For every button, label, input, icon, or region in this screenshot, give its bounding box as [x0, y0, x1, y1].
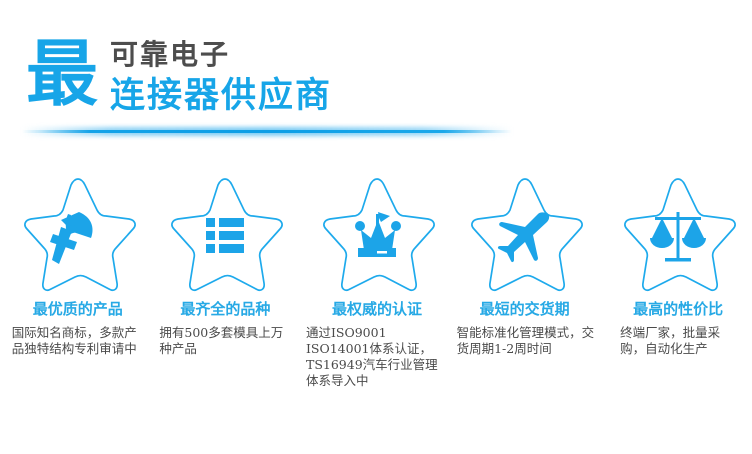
features-row: 最优质的产品 国际知名商标，多款产品独特结构专利审请中 最齐全的品种 拥有500…: [0, 172, 752, 402]
feature-description: 国际知名商标，多款产品独特结构专利审请中: [10, 325, 146, 357]
feature-item: 最优质的产品 国际知名商标，多款产品独特结构专利审请中: [4, 172, 152, 357]
feature-item: 最权威的认证 通过ISO9001 ISO14001体系认证，TS16949汽车行…: [303, 172, 451, 389]
feature-item: 最高的性价比 终端厂家，批量采购，自动化生产: [604, 172, 752, 357]
crown-icon: [355, 212, 401, 257]
feature-description: 拥有500多套模具上万种产品: [157, 325, 293, 357]
headline-block: 最 可靠电子 连接器供应商: [26, 34, 496, 124]
feature-item: 最短的交货期 智能标准化管理模式，交货周期1-2周时间: [451, 172, 599, 357]
star-outline-2: [162, 172, 288, 294]
headline-big-character: 最: [26, 30, 98, 118]
feature-title: 最优质的产品: [33, 300, 123, 319]
feature-description: 终端厂家，批量采购，自动化生产: [614, 325, 742, 357]
feature-description: 通过ISO9001 ISO14001体系认证，TS16949汽车行业管理体系导入…: [306, 325, 448, 389]
divider-core-line: [22, 130, 512, 133]
header-banner: 最 可靠电子 连接器供应商: [0, 0, 752, 150]
feature-title: 最短的交货期: [480, 300, 570, 319]
headline-line-two: 连接器供应商: [110, 74, 332, 118]
balance-scale-icon: [650, 212, 706, 262]
star-outline-1: [15, 172, 141, 294]
star-outline-3: [314, 172, 440, 294]
list-grid-icon: [206, 218, 244, 253]
star-outline-4: [462, 172, 588, 294]
feature-description: 智能标准化管理模式，交货周期1-2周时间: [455, 325, 595, 357]
feature-title: 最高的性价比: [633, 300, 723, 319]
satellite-dish-icon: [50, 212, 93, 264]
feature-item: 最齐全的品种 拥有500多套模具上万种产品: [152, 172, 300, 357]
header-divider: [22, 124, 512, 138]
star-outline-5: [615, 172, 741, 294]
headline-line-one: 可靠电子: [110, 38, 230, 72]
feature-title: 最齐全的品种: [180, 300, 270, 319]
airplane-icon: [497, 212, 548, 262]
feature-title: 最权威的认证: [332, 300, 422, 319]
